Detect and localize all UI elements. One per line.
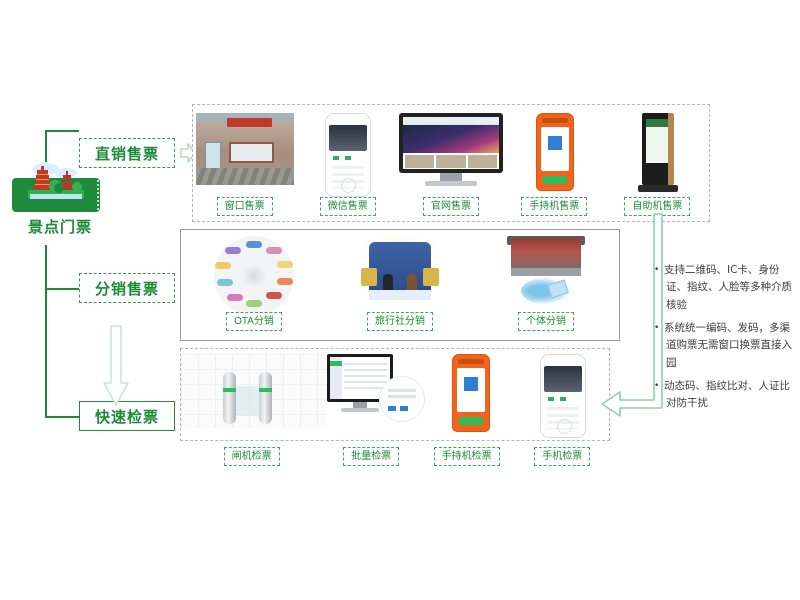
channel-node-distribution[interactable]: 分销售票 — [79, 273, 175, 303]
connector-line-distrib-v — [45, 245, 47, 290]
arrow-down-icon — [103, 325, 129, 407]
turnstile-gate-icon — [181, 354, 327, 428]
item-handheld-ticketing[interactable] — [503, 113, 606, 191]
connector-line-direct-h — [45, 130, 79, 132]
ota-partners-wheel-icon — [214, 236, 294, 316]
item-label-window-ticketing: 窗口售票 — [217, 197, 273, 216]
individual-agent-icon — [505, 236, 587, 308]
item-label-travel-agency-distribution: 旅行社分销 — [367, 312, 433, 331]
channel-node-direct[interactable]: 直销售票 — [79, 138, 175, 168]
item-label-handheld-check: 手持机检票 — [434, 447, 500, 466]
handheld-pos-icon — [536, 113, 574, 191]
self-service-kiosk-icon — [638, 113, 678, 195]
item-label-handheld-ticketing: 手持机售票 — [521, 197, 587, 216]
item-window-ticketing[interactable] — [193, 113, 296, 185]
item-label-batch-check: 批量检票 — [343, 447, 399, 466]
item-label-turnstile-check: 闸机检票 — [224, 447, 280, 466]
ticket-window-photo — [196, 113, 294, 185]
item-ota-distribution[interactable] — [181, 236, 327, 316]
root-node-scenic-ticket: 景点门票 — [8, 160, 112, 237]
item-handheld-check[interactable] — [425, 354, 517, 432]
channel-label-distribution: 分销售票 — [95, 278, 159, 299]
connector-line-direct-v — [45, 130, 47, 162]
item-label-individual-distribution: 个体分销 — [518, 312, 574, 331]
channel-label-direct: 直销售票 — [95, 143, 159, 164]
smartphone-icon — [540, 354, 586, 438]
connector-line-check-v — [45, 288, 47, 418]
item-kiosk-ticketing[interactable] — [606, 113, 709, 195]
item-turnstile-check[interactable] — [181, 354, 327, 428]
notes-list: 支持二维码、IC卡、身份证、指纹、人脸等多种介质核验 系统统一编码、发码，多渠道… — [652, 262, 800, 419]
channel-label-fast-check: 快速检票 — [95, 406, 159, 427]
handheld-pos-icon — [452, 354, 490, 432]
row-check-labels: 闸机检票 批量检票 手持机检票 手机检票 — [180, 447, 610, 466]
item-label-mobile-check: 手机检票 — [534, 447, 590, 466]
row-distribution-sales: OTA分销 旅行社分销 个体分销 — [180, 229, 620, 341]
item-wechat-ticketing[interactable] — [296, 113, 399, 197]
desktop-monitor-icon — [399, 113, 503, 187]
row-fast-check — [180, 348, 610, 441]
diagram-canvas: 景点门票 直销售票 分销售票 快速检票 — [0, 0, 800, 600]
item-website-ticketing[interactable] — [399, 113, 503, 187]
item-label-wechat-ticketing: 微信售票 — [320, 197, 376, 216]
note-item: 动态码、指纹比对、人证比对防干扰 — [666, 378, 800, 413]
root-node-label: 景点门票 — [8, 216, 112, 237]
travel-agency-counter-icon — [359, 236, 441, 308]
batch-desktop-icon — [327, 354, 425, 424]
pagoda-illustration — [26, 160, 86, 202]
item-travel-agency-distribution[interactable] — [327, 236, 473, 308]
note-item: 支持二维码、IC卡、身份证、指纹、人脸等多种介质核验 — [666, 262, 800, 314]
note-item: 系统统一编码、发码，多渠道购票无需窗口换票直接入园 — [666, 320, 800, 372]
item-label-ota-distribution: OTA分销 — [226, 312, 282, 331]
item-batch-check[interactable] — [327, 354, 425, 424]
item-mobile-check[interactable] — [517, 354, 609, 438]
smartphone-wechat-icon — [325, 113, 371, 197]
connector-line-check-h — [45, 416, 79, 418]
row-direct-sales: 窗口售票 微信售票 官网售票 手持机售票 自助机售票 — [192, 104, 710, 222]
item-label-website-ticketing: 官网售票 — [423, 197, 479, 216]
connector-line-distrib-h — [45, 288, 79, 290]
